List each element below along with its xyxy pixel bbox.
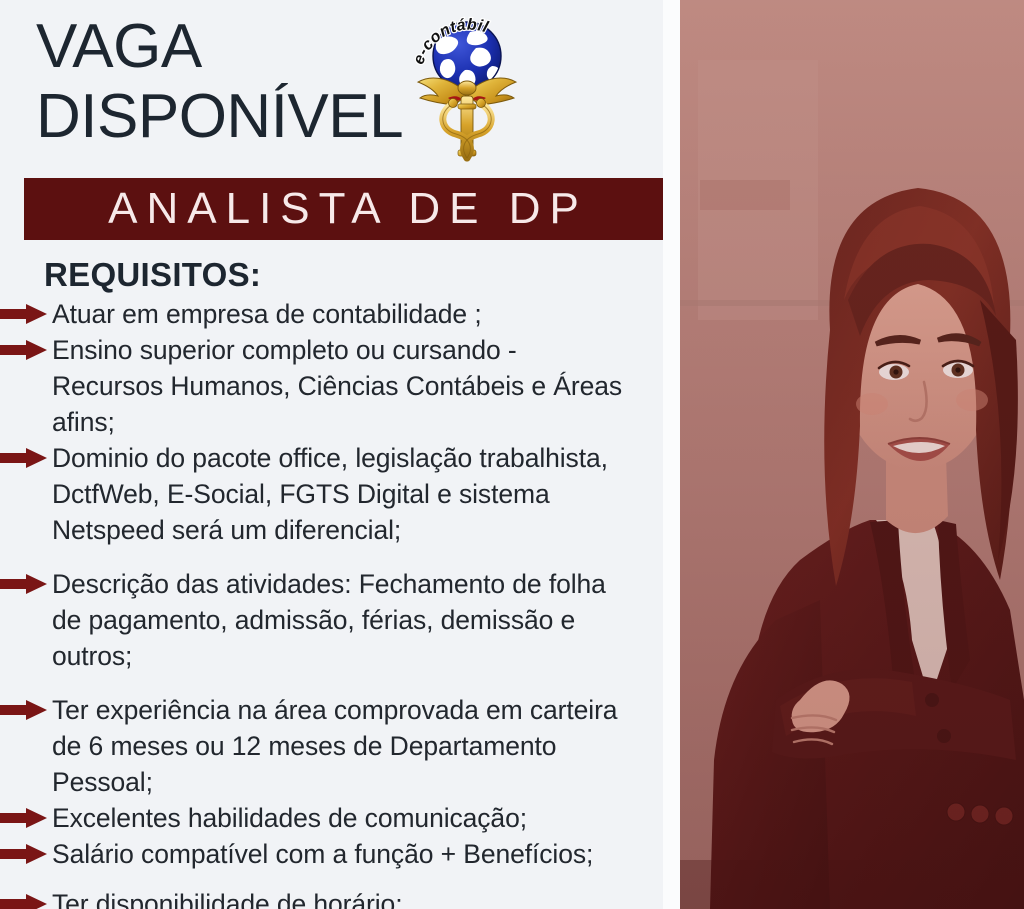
requirement-text: Salário compatível com a função + Benefí… <box>52 836 674 872</box>
page-title: VAGA DISPONÍVEL <box>36 12 436 152</box>
job-title-label: ANALISTA DE DP <box>99 187 588 231</box>
requirement-text: Netspeed será um diferencial; <box>52 512 674 548</box>
job-vacancy-poster: VAGA DISPONÍVEL <box>0 0 1024 909</box>
requirement-item: Descrição das atividades: Fechamento de … <box>0 566 680 602</box>
requirement-text: de 6 meses ou 12 meses de Departamento <box>52 728 674 764</box>
requirement-item: Pessoal; <box>0 764 680 800</box>
requirement-item: Salário compatível com a função + Benefí… <box>0 836 680 872</box>
requirement-text: Ter disponibilidade de horário; <box>52 886 674 909</box>
content-panel: VAGA DISPONÍVEL <box>0 0 680 909</box>
arrow-right-icon <box>0 699 48 721</box>
requirement-text: Ter experiência na área comprovada em ca… <box>52 692 674 728</box>
requirement-text: Atuar em empresa de contabilidade ; <box>52 296 674 332</box>
requirement-item: Ter experiência na área comprovada em ca… <box>0 692 680 728</box>
requirement-text: Dominio do pacote office, legislação tra… <box>52 440 674 476</box>
requirements-list: Atuar em empresa de contabilidade ;Ensin… <box>0 296 680 909</box>
requirements-heading: REQUISITOS: <box>44 256 261 294</box>
arrow-right-icon <box>0 339 48 361</box>
requirement-text: Ensino superior completo ou cursando - <box>52 332 674 368</box>
arrow-right-icon <box>0 843 48 865</box>
arrow-right-icon <box>0 893 48 909</box>
requirement-item: de 6 meses ou 12 meses de Departamento <box>0 728 680 764</box>
businesswoman-portrait-photo <box>680 0 1024 909</box>
requirement-text: outros; <box>52 638 674 674</box>
arrow-right-icon <box>0 447 48 469</box>
list-spacer <box>0 548 680 566</box>
arrow-right-icon <box>0 807 48 829</box>
requirement-text: DctfWeb, E-Social, FGTS Digital e sistem… <box>52 476 674 512</box>
requirement-item: Dominio do pacote office, legislação tra… <box>0 440 680 476</box>
job-title-banner: ANALISTA DE DP <box>24 178 663 240</box>
requirement-item: Excelentes habilidades de comunicação; <box>0 800 680 836</box>
panel-divider <box>663 0 680 909</box>
headline-line-1: VAGA <box>36 12 436 82</box>
requirement-item: Ter disponibilidade de horário; <box>0 886 680 909</box>
requirement-item: de pagamento, admissão, férias, demissão… <box>0 602 680 638</box>
requirement-item: Netspeed será um diferencial; <box>0 512 680 548</box>
requirement-item: Recursos Humanos, Ciências Contábeis e Á… <box>0 368 680 404</box>
list-spacer <box>0 872 680 886</box>
requirement-text: Recursos Humanos, Ciências Contábeis e Á… <box>52 368 674 404</box>
requirement-item: Ensino superior completo ou cursando - <box>0 332 680 368</box>
requirement-text: Pessoal; <box>52 764 674 800</box>
requirement-item: afins; <box>0 404 680 440</box>
requirement-text: Descrição das atividades: Fechamento de … <box>52 566 674 602</box>
headline-line-2: DISPONÍVEL <box>36 82 436 152</box>
arrow-right-icon <box>0 303 48 325</box>
requirement-item: DctfWeb, E-Social, FGTS Digital e sistem… <box>0 476 680 512</box>
requirement-text: Excelentes habilidades de comunicação; <box>52 800 674 836</box>
requirement-item: Atuar em empresa de contabilidade ; <box>0 296 680 332</box>
requirement-item: outros; <box>0 638 680 674</box>
requirement-text: de pagamento, admissão, férias, demissão… <box>52 602 674 638</box>
list-spacer <box>0 674 680 692</box>
e-contabil-logo-icon: e-contábil <box>408 8 526 170</box>
requirement-text: afins; <box>52 404 674 440</box>
arrow-right-icon <box>0 573 48 595</box>
